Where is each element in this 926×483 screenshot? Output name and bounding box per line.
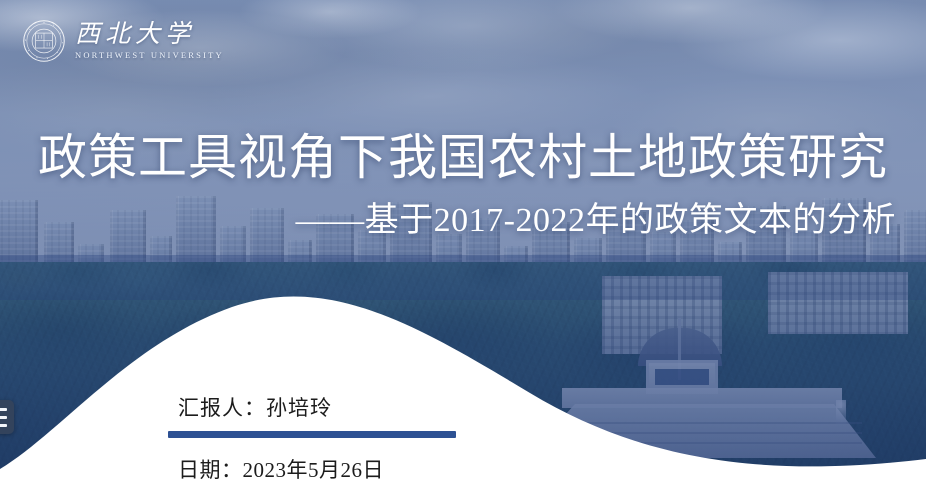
- menu-bar-3: [0, 424, 7, 427]
- main-title: 政策工具视角下我国农村土地政策研究: [0, 130, 926, 187]
- presenter-block: 汇报人：孙培玲 日期：2023年5月26日: [178, 392, 478, 483]
- menu-bar-2: [0, 416, 7, 419]
- reporter-name: 汇报人：孙培玲: [178, 392, 478, 422]
- menu-bar-1: [0, 408, 7, 411]
- university-seal-icon: [22, 19, 66, 63]
- university-logo: 西北大学 NORTHWEST UNIVERSITY: [22, 19, 224, 63]
- title-block: 政策工具视角下我国农村土地政策研究 ——基于2017-2022年的政策文本的分析: [0, 130, 926, 242]
- hamburger-menu-icon[interactable]: [0, 400, 14, 434]
- subtitle: ——基于2017-2022年的政策文本的分析: [0, 201, 896, 242]
- presentation-date: 日期：2023年5月26日: [178, 454, 478, 483]
- presentation-slide: 西北大学 NORTHWEST UNIVERSITY 政策工具视角下我国农村土地政…: [0, 0, 926, 483]
- logo-english-name: NORTHWEST UNIVERSITY: [75, 51, 224, 60]
- accent-divider: [168, 431, 456, 438]
- logo-chinese-name: 西北大学: [75, 22, 224, 47]
